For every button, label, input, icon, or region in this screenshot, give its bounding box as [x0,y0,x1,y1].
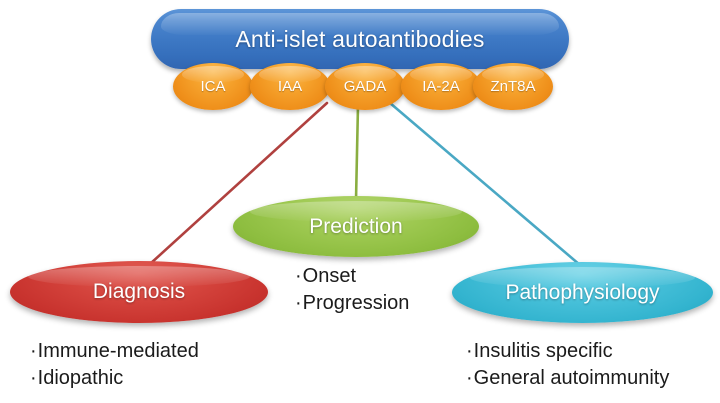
marker-gada: GADA [325,63,405,110]
bullets-diagnosis: ·Immune-mediated ·Idiopathic [30,338,199,392]
bullet-dot-icon: · [466,367,473,389]
outcome-pathophysiology: Pathophysiology [452,262,713,323]
marker-iaa: IAA [250,63,330,110]
list-item-label: Progression [303,292,410,314]
diagram-canvas: Anti-islet autoantibodies ICA IAA GADA I… [0,0,720,403]
connector-gada-to-prediction [356,105,358,200]
list-item: ·Progression [295,290,409,317]
marker-label-ica: ICA [200,78,225,95]
bullet-dot-icon: · [30,340,37,362]
bullet-dot-icon: · [466,340,473,362]
marker-znt8a: ZnT8A [473,63,553,110]
list-item-label: Insulitis specific [474,340,613,362]
list-item: ·General autoimmunity [466,365,669,392]
marker-row: ICA IAA GADA IA-2A ZnT8A [173,63,551,112]
bullet-dot-icon: · [295,265,302,287]
list-item-label: Onset [303,265,356,287]
bullet-dot-icon: · [30,367,37,389]
marker-label-ia-2a: IA-2A [422,78,460,95]
list-item-label: General autoimmunity [474,367,670,389]
bullets-prediction: ·Onset ·Progression [295,263,409,317]
outcome-label-diagnosis: Diagnosis [93,280,185,304]
list-item: ·Onset [295,263,409,290]
marker-ica: ICA [173,63,253,110]
list-item-label: Immune-mediated [38,340,199,362]
outcome-prediction: Prediction [233,196,479,257]
outcome-diagnosis: Diagnosis [10,261,268,323]
outcome-label-pathophysiology: Pathophysiology [505,281,659,305]
bullet-dot-icon: · [295,292,302,314]
list-item: ·Insulitis specific [466,338,669,365]
outcome-label-prediction: Prediction [309,215,402,239]
marker-label-znt8a: ZnT8A [490,78,535,95]
list-item: ·Immune-mediated [30,338,199,365]
marker-label-gada: GADA [344,78,387,95]
list-item: ·Idiopathic [30,365,199,392]
header-label: Anti-islet autoantibodies [235,26,484,53]
marker-label-iaa: IAA [278,78,302,95]
header-anti-islet-autoantibodies: Anti-islet autoantibodies [151,9,569,69]
bullets-pathophysiology: ·Insulitis specific ·General autoimmunit… [466,338,669,392]
list-item-label: Idiopathic [38,367,124,389]
marker-ia-2a: IA-2A [401,63,481,110]
